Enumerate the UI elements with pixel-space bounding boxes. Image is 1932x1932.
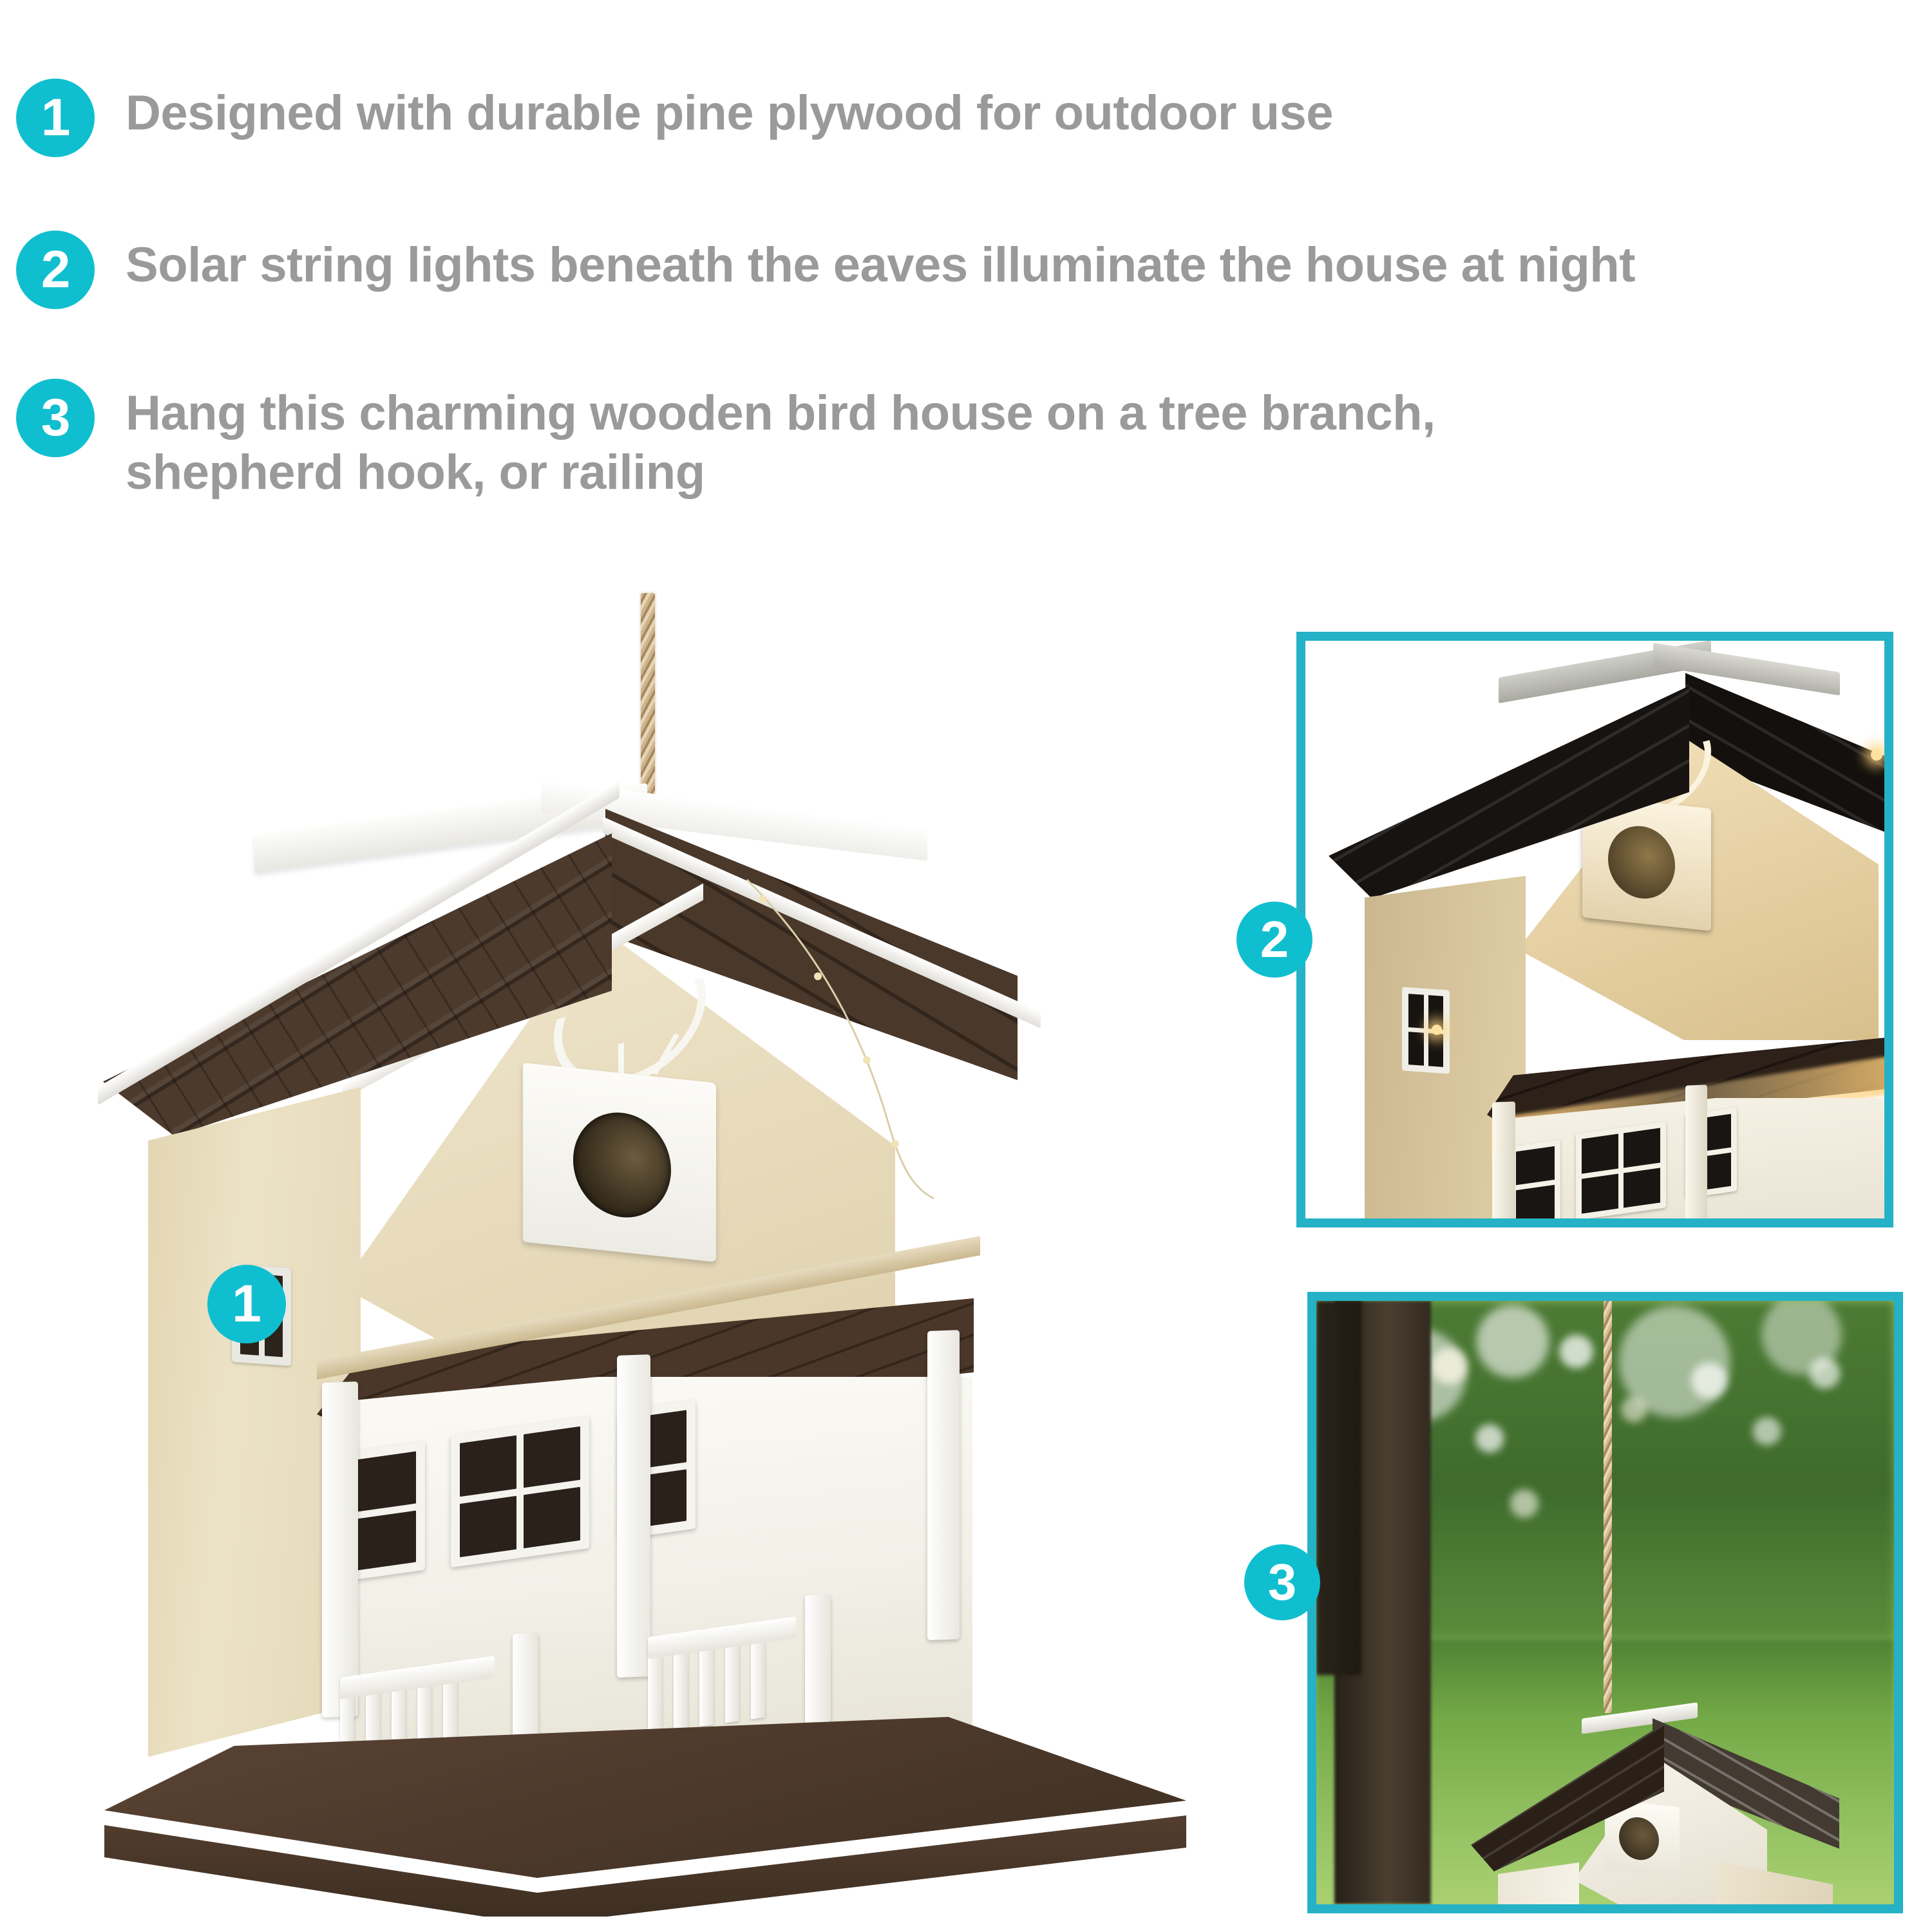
window-pane (1582, 1134, 1618, 1174)
feature-badge-1: 1 (16, 79, 95, 157)
feature-item-1: 1 Designed with durable pine plywood for… (16, 79, 1333, 157)
feature-item-3: 3 Hang this charming wooden bird house o… (16, 379, 1435, 502)
jute-hanging-rope-icon (1604, 1301, 1612, 1713)
window-pane (357, 1510, 416, 1570)
night-scene (1305, 641, 1884, 1218)
porch-column (1492, 1101, 1515, 1227)
window-pane (357, 1452, 416, 1511)
inset-photo-lit (1296, 632, 1893, 1227)
feature-text-2: Solar string lights beneath the eaves il… (126, 231, 1635, 295)
window-pane (1582, 1174, 1618, 1214)
side-window (1402, 987, 1450, 1074)
bird-house-outdoor (1459, 1700, 1820, 1904)
porch-column (322, 1381, 358, 1718)
feature-badge-3: 3 (16, 379, 95, 457)
porch-column (617, 1354, 650, 1678)
side-wall-left (1498, 1862, 1579, 1904)
window-pane (1624, 1168, 1660, 1207)
main-product-photo: 1 (64, 564, 1243, 1917)
feature-text-1: Designed with durable pine plywood for o… (126, 79, 1333, 143)
photo-badge-2: 2 (1236, 902, 1312, 978)
window-pane (1428, 1033, 1444, 1067)
feature-text-3: Hang this charming wooden bird house on … (126, 379, 1435, 502)
window-pane (1516, 1146, 1555, 1185)
solar-light-bulb-icon (1432, 1025, 1442, 1035)
feature-list: 1 Designed with durable pine plywood for… (0, 0, 1932, 535)
porch-column (927, 1330, 960, 1640)
outdoor-scene (1316, 1301, 1894, 1904)
side-wall-right (1717, 1861, 1833, 1904)
window-pane (1516, 1185, 1555, 1224)
front-window-center (451, 1416, 589, 1567)
window-pane (460, 1435, 516, 1497)
front-window-left (1510, 1140, 1560, 1227)
window-pane (1408, 1032, 1424, 1066)
solar-light-bulb-icon (1871, 749, 1882, 761)
front-window-center (1576, 1121, 1666, 1220)
tree-trunk-secondary (1316, 1301, 1361, 1675)
porch-column (1888, 1066, 1893, 1227)
inset-photo-outdoor (1307, 1292, 1903, 1913)
feature-item-2: 2 Solar string lights beneath the eaves … (16, 231, 1635, 309)
window-pane (1408, 994, 1424, 1028)
window-pane (1624, 1128, 1660, 1168)
fence-post (805, 1594, 831, 1724)
window-pane (524, 1487, 580, 1548)
ridge-cap (1582, 1702, 1698, 1734)
porch-column (1685, 1084, 1707, 1227)
window-pane (524, 1426, 580, 1488)
front-window-left (348, 1441, 425, 1581)
photo-badge-3: 3 (1244, 1544, 1320, 1620)
feature-badge-2: 2 (16, 231, 95, 309)
ridge-cap-right (1653, 643, 1840, 696)
window-pane (460, 1496, 516, 1557)
photo-badge-1: 1 (207, 1265, 286, 1343)
